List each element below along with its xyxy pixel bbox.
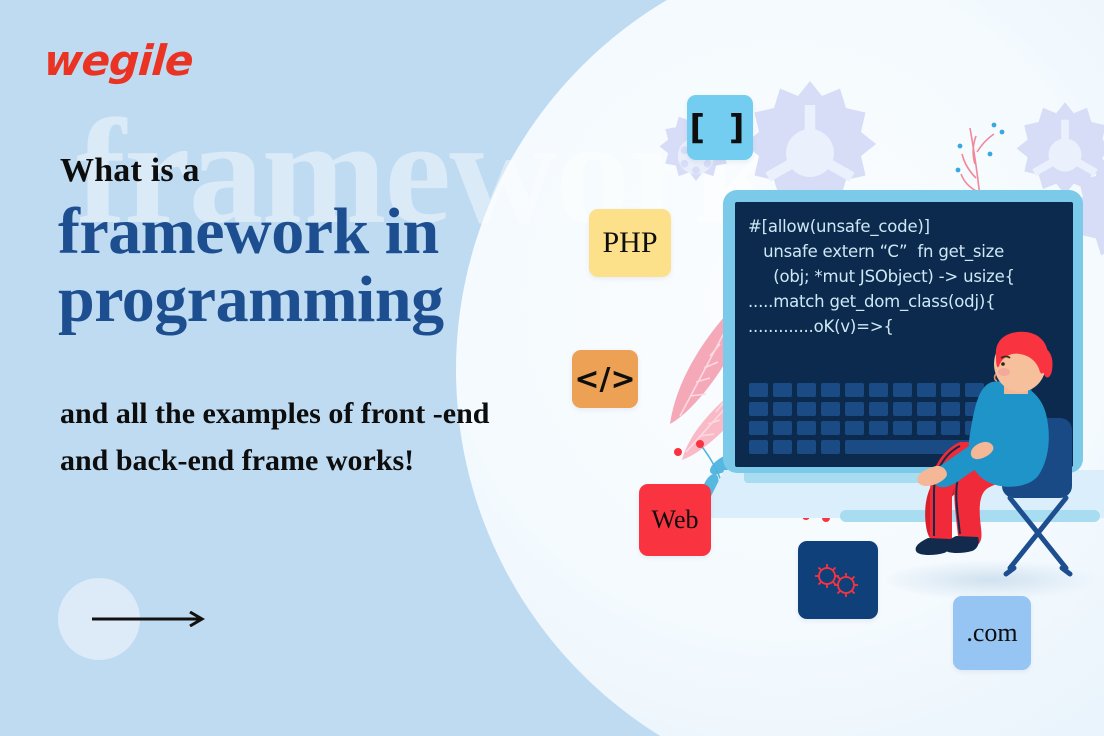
key — [821, 421, 840, 435]
key — [869, 383, 888, 397]
tag-gears[interactable] — [798, 541, 878, 619]
key — [749, 440, 768, 454]
key — [749, 402, 768, 416]
key — [773, 402, 792, 416]
key — [869, 402, 888, 416]
key — [797, 383, 816, 397]
key — [845, 402, 864, 416]
hero-banner: framework — [0, 0, 1104, 736]
key — [797, 402, 816, 416]
subtitle-text: and all the examples of front -end and b… — [60, 390, 510, 484]
key — [773, 383, 792, 397]
key — [821, 402, 840, 416]
tag-code[interactable]: </> — [572, 350, 638, 408]
key — [797, 421, 816, 435]
arrow-right-icon — [92, 611, 208, 627]
key — [797, 440, 816, 454]
key — [749, 421, 768, 435]
eyebrow-text: What is a — [60, 152, 200, 190]
tag-dotcom[interactable]: .com — [953, 596, 1031, 670]
tag-php[interactable]: PHP — [589, 209, 671, 277]
key — [749, 383, 768, 397]
tag-brackets[interactable]: [ ] — [687, 95, 753, 160]
key — [869, 421, 888, 435]
page-title: framework in programming — [58, 198, 528, 334]
key — [845, 383, 864, 397]
logo[interactable]: wegile — [42, 36, 194, 85]
next-arrow-button[interactable] — [58, 578, 218, 664]
key — [773, 421, 792, 435]
code-text: #[allow(unsafe_code)] unsafe extern “C” … — [748, 214, 1073, 339]
tag-web[interactable]: Web — [639, 484, 711, 556]
person-illustration — [900, 330, 1104, 595]
key — [821, 440, 840, 454]
key — [845, 421, 864, 435]
key — [773, 440, 792, 454]
key — [821, 383, 840, 397]
gears-icon — [810, 562, 866, 598]
